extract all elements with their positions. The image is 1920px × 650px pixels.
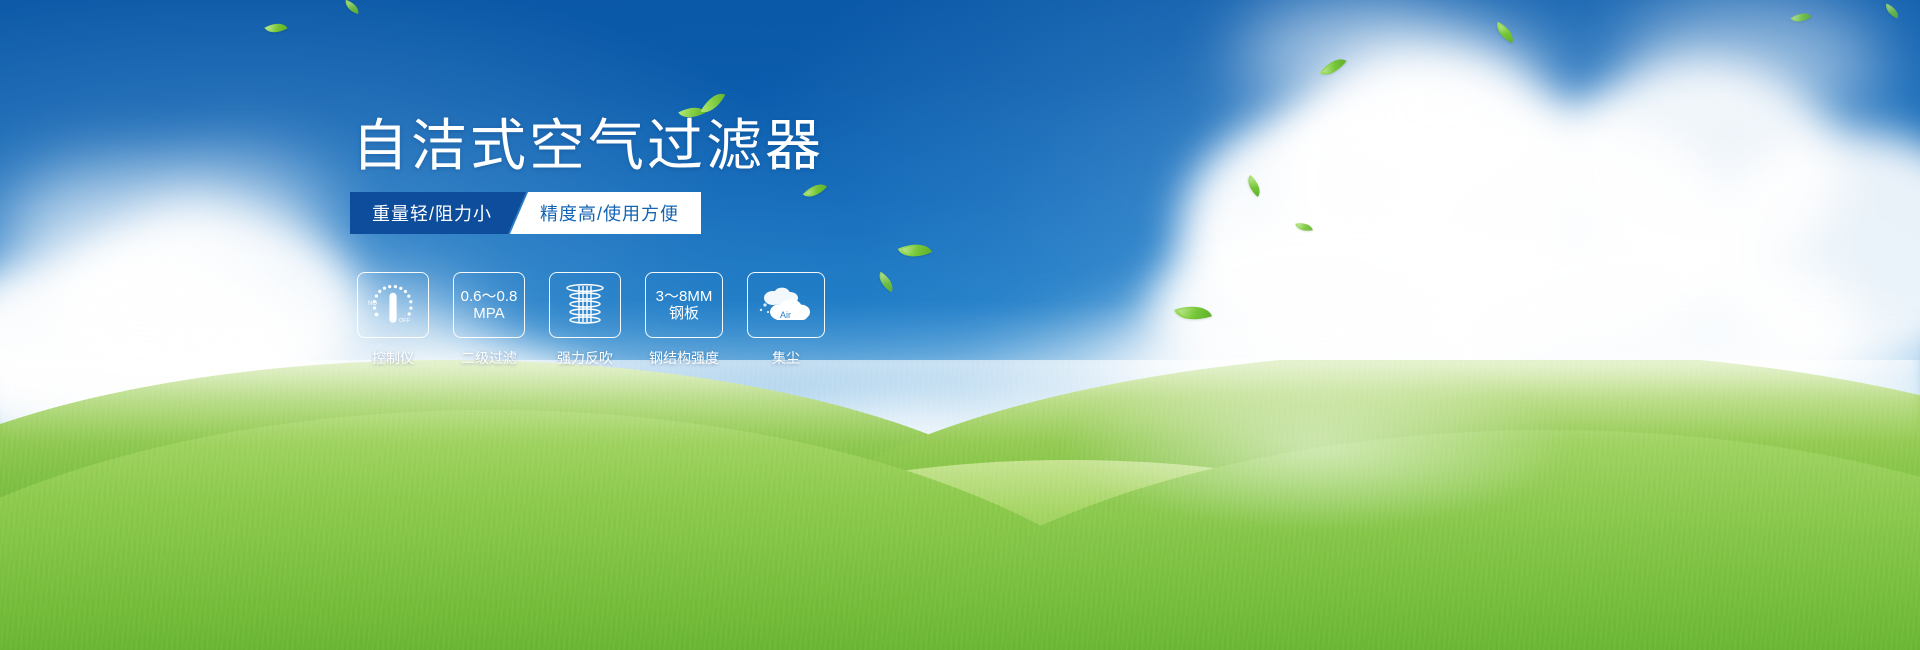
pressure-range-text: 0.6～0.8 [461, 288, 518, 305]
banner-content: 自洁式空气过滤器 重量轻/阻力小 精度高/使用方便 [0, 0, 1920, 650]
feature-item-strong-backblow[interactable]: 强力反吹 [549, 272, 621, 368]
tag-lightweight-low-resistance[interactable]: 重量轻/阻力小 [350, 192, 526, 234]
feature-item-dust-collection[interactable]: Air 集尘 [747, 272, 825, 368]
feature-tag-strip: 重量轻/阻力小 精度高/使用方便 [350, 192, 701, 234]
feature-caption: 钢结构强度 [649, 348, 719, 368]
backblow-icon [559, 280, 611, 330]
feature-item-controller[interactable]: NO OFF 控制仪 [357, 272, 429, 368]
feature-caption: 强力反吹 [557, 348, 613, 368]
feature-icon-box: 3～8MM 钢板 [645, 272, 723, 338]
feature-caption: 二级过滤 [461, 348, 517, 368]
air-label: Air [780, 310, 791, 320]
tag-high-precision-easy-use[interactable]: 精度高/使用方便 [510, 192, 701, 234]
feature-icon-box: 0.6～0.8 MPA [453, 272, 525, 338]
feature-caption: 控制仪 [372, 348, 414, 368]
gauge-label-no: NO [368, 301, 377, 307]
feature-icon-row: NO OFF 控制仪 0.6～0.8 MPA 二级过滤 [357, 272, 825, 368]
feature-icon-box: NO OFF [357, 272, 429, 338]
steel-thickness-text: 3～8MM [656, 288, 713, 305]
title-sprout-leaves-icon [680, 92, 726, 126]
product-hero-banner: 自洁式空气过滤器 重量轻/阻力小 精度高/使用方便 [0, 0, 1920, 650]
feature-icon-box: Air [747, 272, 825, 338]
gauge-label-off: OFF [399, 318, 411, 324]
feature-icon-box [549, 272, 621, 338]
pressure-unit-text: MPA [473, 305, 504, 322]
feature-caption: 集尘 [772, 348, 800, 368]
feature-item-steel-strength[interactable]: 3～8MM 钢板 钢结构强度 [645, 272, 723, 368]
steel-plate-text: 钢板 [669, 305, 699, 322]
page-title: 自洁式空气过滤器 [352, 118, 824, 174]
air-cloud-icon: Air [756, 281, 816, 329]
feature-item-secondary-filtration[interactable]: 0.6～0.8 MPA 二级过滤 [453, 272, 525, 368]
gauge-icon: NO OFF [365, 279, 421, 331]
